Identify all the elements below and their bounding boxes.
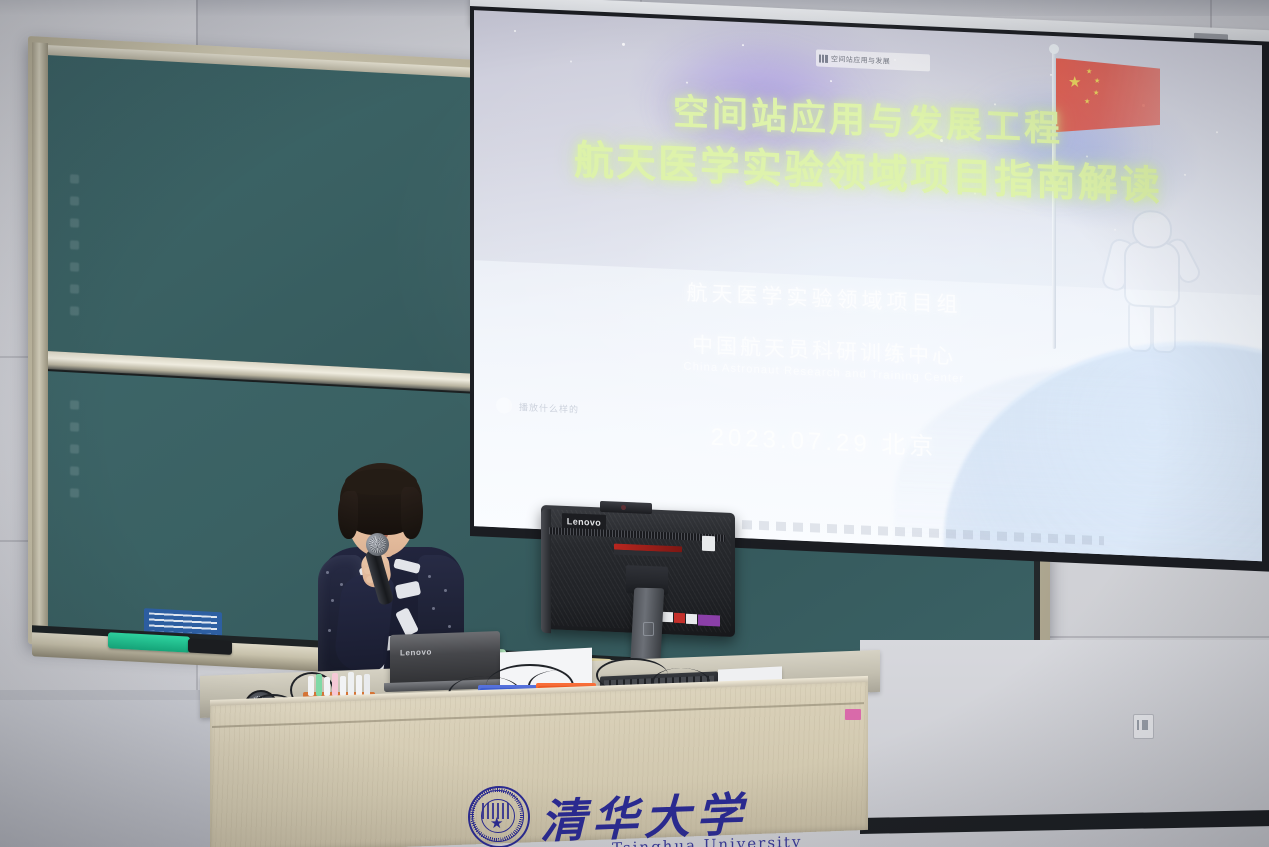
slide-surface: 空间站应用与发展 ★ ★ ★ ★ ★ <box>474 10 1262 561</box>
chalk-marker <box>308 676 314 696</box>
chalk-marker <box>324 677 330 696</box>
blackboard-left-post <box>32 42 48 639</box>
monitor-sticker <box>674 613 685 623</box>
monitor-sticker <box>686 614 697 624</box>
chalk-marker <box>332 673 338 696</box>
webcam-lens <box>621 505 626 510</box>
chalk-marker <box>364 674 370 696</box>
board-notice-sign-text <box>149 612 217 634</box>
projection-screen: 空间站应用与发展 ★ ★ ★ ★ ★ <box>470 6 1269 582</box>
tray-object-dark <box>188 639 232 655</box>
slide-top-chip-label: 空间站应用与发展 <box>831 54 890 67</box>
webcam-icon <box>600 501 652 514</box>
lecture-hall-photo: 空间站应用与发展 ★ ★ ★ ★ ★ <box>0 0 1269 847</box>
flag-pole-knob <box>1049 44 1059 54</box>
monitor-sticker <box>698 615 720 627</box>
podium-sticker <box>845 709 861 720</box>
speaker-hair-side-left <box>338 491 358 539</box>
left-cabinet-face <box>0 700 212 847</box>
speaker-hair-side-right <box>401 487 423 539</box>
seal-star: ★ <box>490 816 503 831</box>
signal-bars-icon <box>819 54 828 62</box>
chalk-marker <box>348 672 354 696</box>
smiley-icon <box>496 397 512 414</box>
monitor-stand-badge <box>643 622 654 636</box>
chalk-marker <box>340 676 346 696</box>
slide-bottom-chip-label: 播放什么样的 <box>519 400 579 416</box>
power-outlet-slots <box>1137 720 1148 730</box>
chalk-marker <box>316 674 322 696</box>
monitor-brand-label: Lenovo <box>567 516 601 527</box>
monitor-sticker <box>702 536 715 552</box>
laptop-brand-label: Lenovo <box>400 647 432 657</box>
astronaut-helmet <box>1132 209 1172 249</box>
chalk-marker <box>356 675 362 696</box>
tsinghua-seal-icon: ★ <box>468 786 530 847</box>
